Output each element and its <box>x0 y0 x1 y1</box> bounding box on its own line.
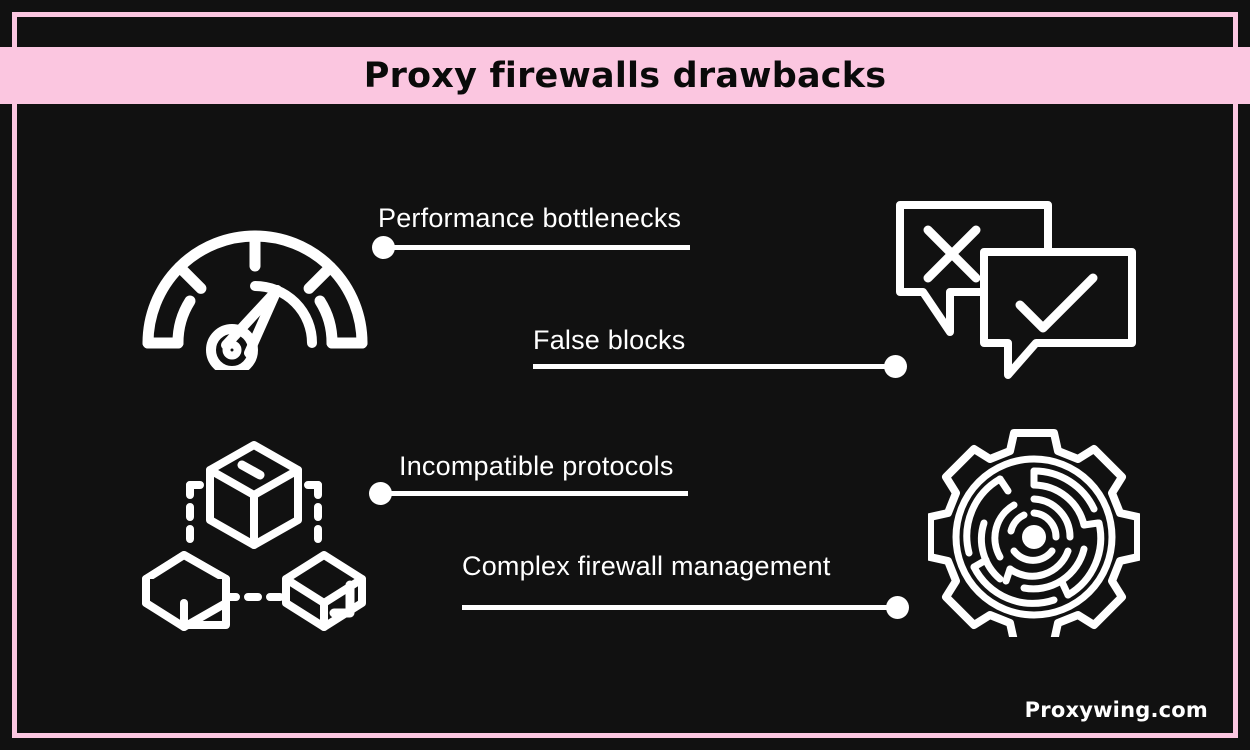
connector-dot-complex-firewall-management <box>886 596 909 619</box>
gear-maze-icon <box>928 425 1140 637</box>
page-title: Proxy firewalls drawbacks <box>364 56 887 96</box>
chat-bubbles-cross-check-icon <box>888 195 1158 380</box>
speedometer-icon <box>130 200 380 370</box>
connector-line-false-blocks <box>533 364 895 369</box>
infographic-poster: Proxy firewalls drawbacks Performa <box>0 0 1250 750</box>
item-label-incompatible-protocols: Incompatible protocols <box>399 451 674 482</box>
item-label-performance-bottlenecks: Performance bottlenecks <box>378 203 681 234</box>
item-label-complex-firewall-management: Complex firewall management <box>462 551 831 582</box>
connector-line-incompatible-protocols <box>380 491 688 496</box>
connector-line-complex-firewall-management <box>462 605 897 610</box>
connector-dot-false-blocks <box>884 355 907 378</box>
network-cubes-icon <box>138 437 370 633</box>
title-banner: Proxy firewalls drawbacks <box>0 47 1250 104</box>
watermark-proxywing: Proxywing.com <box>1025 698 1208 722</box>
connector-line-performance-bottlenecks <box>383 245 690 250</box>
item-label-false-blocks: False blocks <box>533 325 685 356</box>
connector-dot-performance-bottlenecks <box>372 236 395 259</box>
connector-dot-incompatible-protocols <box>369 482 392 505</box>
